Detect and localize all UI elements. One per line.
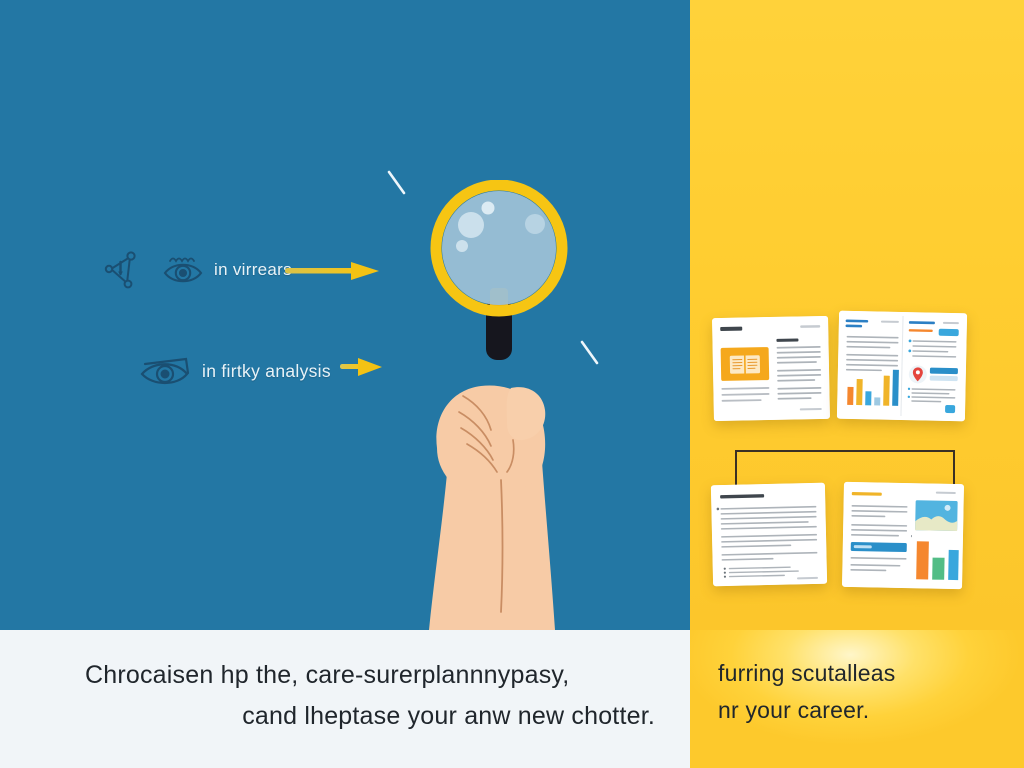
document-card-report-spread[interactable] [837, 311, 967, 422]
document-card-data[interactable] [842, 482, 964, 589]
right-caption-text: furring scutalleas nr your career. [718, 655, 998, 730]
annotation-label-1: in virrears [214, 260, 292, 280]
left-caption-text: Chrocaisen hp the, care-surerplannnypasy… [85, 655, 655, 736]
arrow-right-long-icon [285, 258, 381, 289]
arrow-right-short-icon [340, 355, 384, 384]
annotation-row-2: in firtky analysis [137, 350, 331, 392]
right-caption-line-1: furring scutalleas [718, 660, 895, 686]
sparkle-icon [578, 338, 604, 373]
magnifying-glass-icon [420, 180, 580, 375]
eye-icon [161, 250, 205, 290]
sparkle-icon [385, 168, 411, 203]
right-caption-line-2: nr your career. [718, 692, 998, 729]
eye-wide-icon [137, 350, 193, 392]
poster-canvas: in virrears [0, 0, 1024, 768]
left-caption-line-1: Chrocaisen hp the, care-surerplannnypasy… [85, 661, 569, 689]
document-card-brochure[interactable] [712, 316, 830, 421]
hand-illustration [415, 330, 575, 635]
left-caption-line-2: cand lheptase your anw new chotter. [85, 696, 655, 737]
annotation-row-1: in virrears [100, 248, 292, 292]
left-panel: in virrears [0, 0, 690, 630]
document-card-text[interactable] [711, 483, 827, 587]
node-graph-icon [100, 248, 152, 292]
annotation-label-2: in firtky analysis [202, 361, 331, 382]
